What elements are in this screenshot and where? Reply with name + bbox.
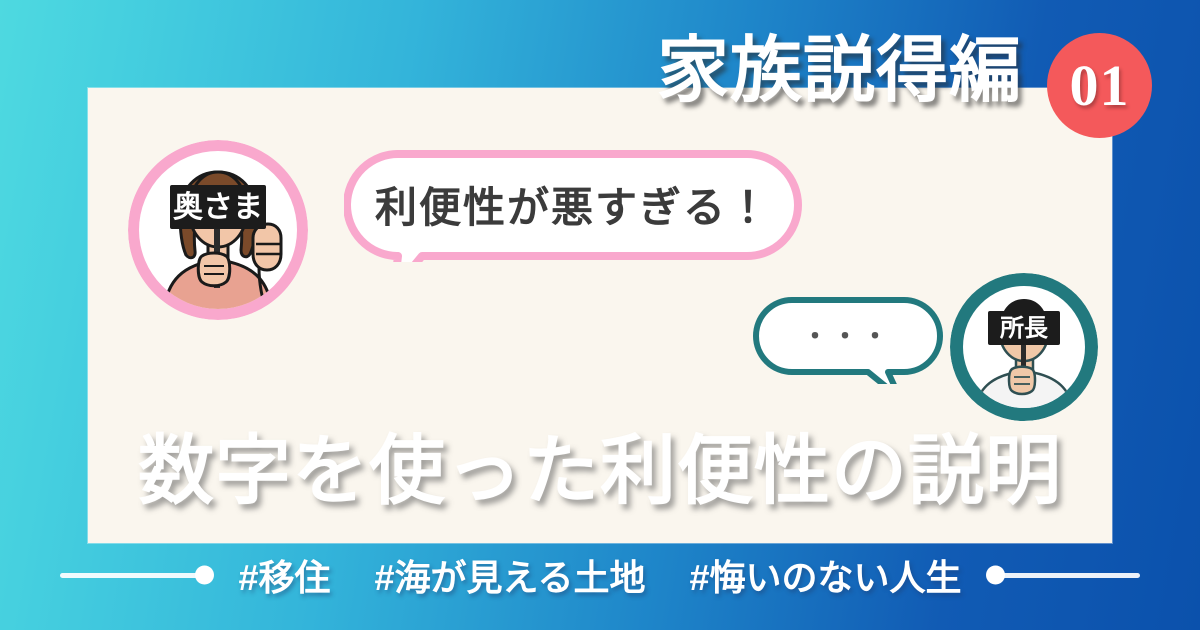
svg-text:所長: 所長: [999, 315, 1048, 342]
main-headline: 数字を使った利便性の説明: [0, 430, 1200, 514]
speech-bubble-boss-text: ・・・: [802, 316, 892, 353]
avatar-boss: 所長: [950, 273, 1098, 421]
rule-left-decoration: [60, 573, 208, 578]
svg-text:奥さま: 奥さま: [173, 191, 263, 224]
hashtag-list: #移住 #海が見える土地 #悔いのない人生: [208, 549, 991, 601]
speech-bubble-wife-text: 利便性が悪すぎる！: [375, 174, 771, 235]
thumbnail-canvas: 家族説得編 01: [0, 0, 1200, 630]
rule-right-decoration: [992, 573, 1140, 578]
hashtag-strip: #移住 #海が見える土地 #悔いのない人生: [0, 551, 1200, 599]
avatar-wife: 奥さま: [128, 140, 308, 320]
episode-number-badge: 01: [1047, 33, 1152, 138]
speech-bubble-wife: 利便性が悪すぎる！: [344, 150, 802, 262]
speech-bubble-boss: ・・・: [752, 296, 944, 384]
hashtag-item: #移住: [238, 549, 330, 601]
episode-number: 01: [1070, 57, 1130, 115]
hashtag-item: #海が見える土地: [375, 549, 646, 601]
hashtag-item: #悔いのない人生: [689, 549, 961, 601]
category-title: 家族説得編: [657, 30, 1022, 113]
